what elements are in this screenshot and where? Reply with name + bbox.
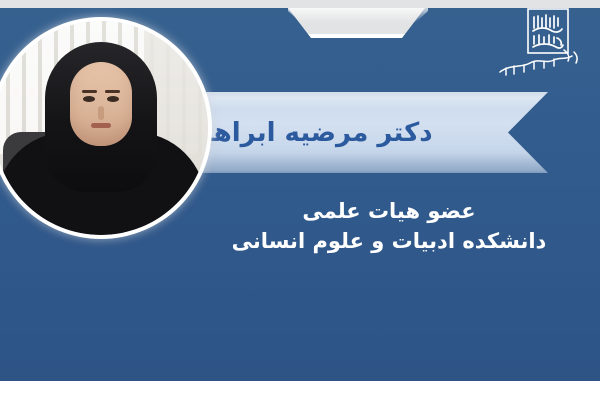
- faculty-profile-card: دکتر مرضیه ابراهیمی عضو هیات علمی دانشکد…: [0, 0, 600, 400]
- eyebrow-left: [82, 90, 97, 93]
- mouth: [91, 123, 111, 128]
- nose: [98, 106, 104, 120]
- person-face: [70, 62, 132, 146]
- portrait-photo: [0, 21, 208, 235]
- faculty-department: دانشکده ادبیات و علوم انسانی: [190, 226, 588, 256]
- shahid-beheshti-university-logo-icon: [494, 6, 586, 80]
- faculty-position: عضو هیات علمی: [190, 196, 588, 226]
- avatar: [0, 21, 208, 235]
- eye-right: [107, 96, 119, 102]
- faculty-position-block: عضو هیات علمی دانشکده ادبیات و علوم انسا…: [190, 196, 588, 257]
- eyebrow-right: [105, 90, 120, 93]
- logo-artwork: [494, 6, 586, 80]
- eye-left: [83, 96, 95, 102]
- bottom-white-strip: [0, 381, 600, 400]
